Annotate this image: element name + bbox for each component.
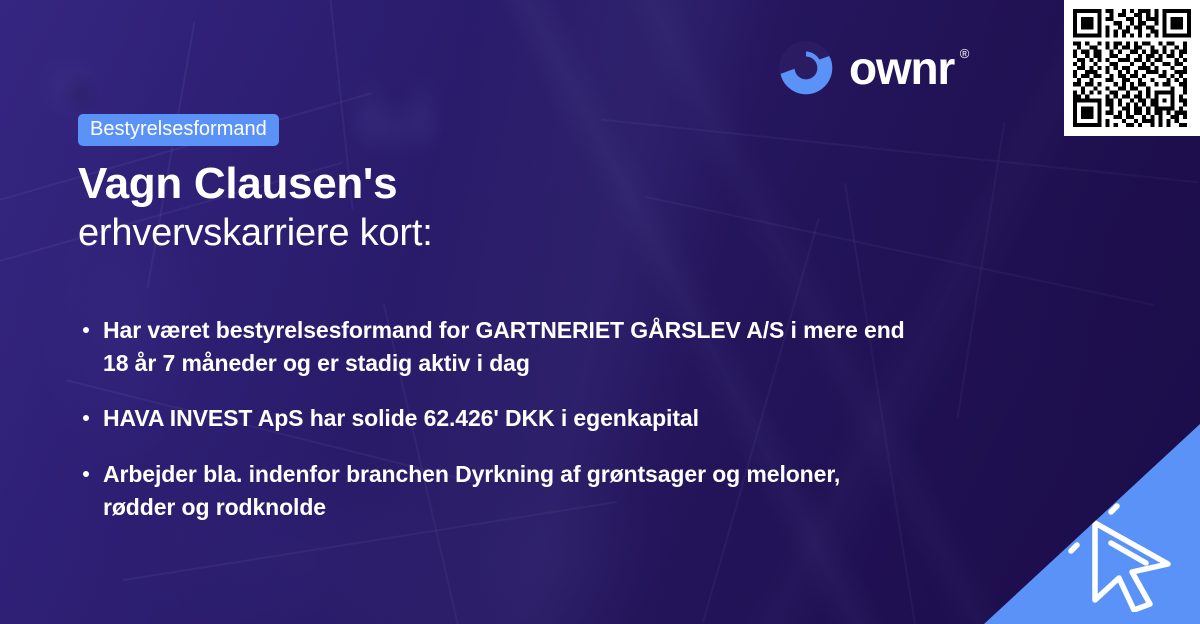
career-summary-card: ownr® <box>0 0 1200 624</box>
registered-trademark-icon: ® <box>960 47 968 60</box>
background-edge <box>957 122 1006 419</box>
qr-code-icon <box>1073 9 1191 127</box>
career-facts-list: Har været bestyrelsesformand for GARTNER… <box>78 314 918 523</box>
page-subtitle: erhvervskarriere kort: <box>78 212 433 255</box>
role-badge: Bestyrelsesformand <box>78 114 279 146</box>
list-item: HAVA INVEST ApS har solide 62.426' DKK i… <box>78 402 918 435</box>
background-edge <box>645 196 1154 306</box>
list-item: Har været bestyrelsesformand for GARTNER… <box>78 314 918 379</box>
bullet-dot-icon <box>83 471 89 477</box>
office-background-image <box>0 0 1200 624</box>
ownr-wordmark-text: ownr <box>849 42 954 94</box>
qr-code-panel[interactable] <box>1064 0 1200 136</box>
list-item-text: HAVA INVEST ApS har solide 62.426' DKK i… <box>103 405 699 431</box>
bullet-dot-icon <box>83 327 89 333</box>
list-item-text: Har været bestyrelsesformand for GARTNER… <box>103 317 905 376</box>
ownr-wordmark: ownr® <box>849 45 954 91</box>
list-item-text: Arbejder bla. indenfor branchen Dyrkning… <box>103 461 840 520</box>
list-item: Arbejder bla. indenfor branchen Dyrkning… <box>78 458 918 523</box>
bullet-dot-icon <box>83 415 89 421</box>
ownr-logo[interactable]: ownr® <box>778 40 954 96</box>
ownr-circle-swirl-icon <box>778 40 834 96</box>
page-title: Vagn Clausen's <box>78 160 397 208</box>
